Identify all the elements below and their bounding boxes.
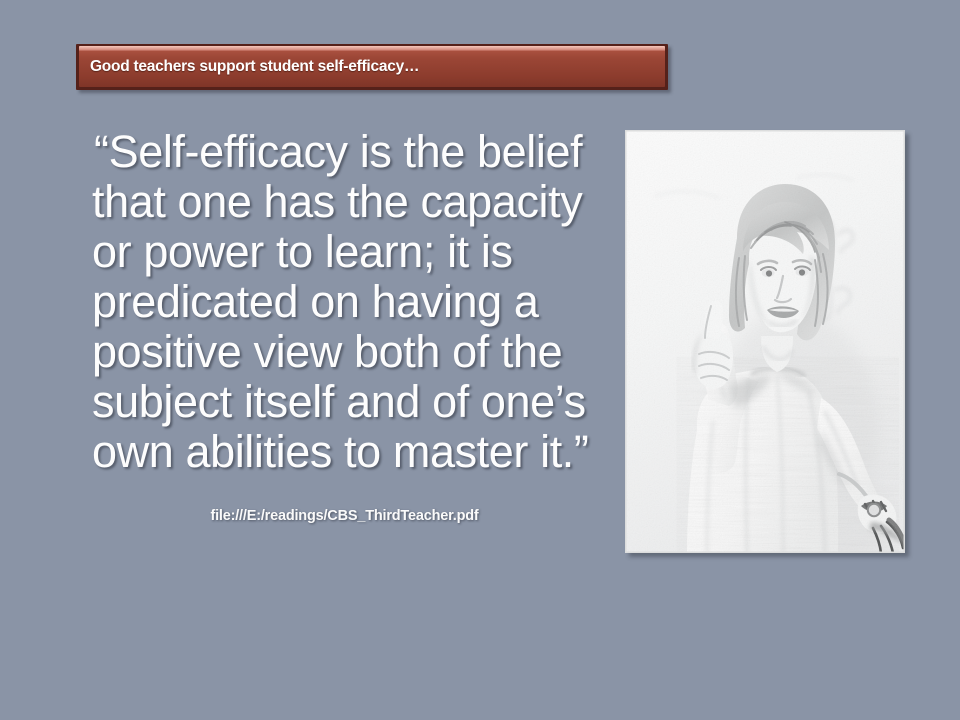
quote-line: own abilities to master it.” [92, 427, 602, 477]
slide-canvas: Good teachers support student self-effic… [0, 0, 960, 720]
slide-title-banner-fill: Good teachers support student self-effic… [79, 46, 665, 87]
slide-title-banner: Good teachers support student self-effic… [76, 44, 668, 90]
quote-line: “Self-efficacy is the belief [92, 127, 602, 177]
quote-line: or power to learn; it is [92, 227, 602, 277]
quote-line: positive view both of the [92, 327, 602, 377]
teacher-photo [625, 130, 905, 553]
quote-line: that one has the capacity [92, 177, 602, 227]
quote-line: predicated on having a [92, 277, 602, 327]
quote-line: subject itself and of one’s [92, 377, 602, 427]
quote-block: “Self-efficacy is the belief that one ha… [92, 127, 602, 477]
slide-title-text: Good teachers support student self-effic… [90, 58, 419, 76]
teacher-photo-image [625, 130, 905, 553]
quote-source-citation: file:///E:/readings/CBS_ThirdTeacher.pdf [92, 508, 597, 524]
